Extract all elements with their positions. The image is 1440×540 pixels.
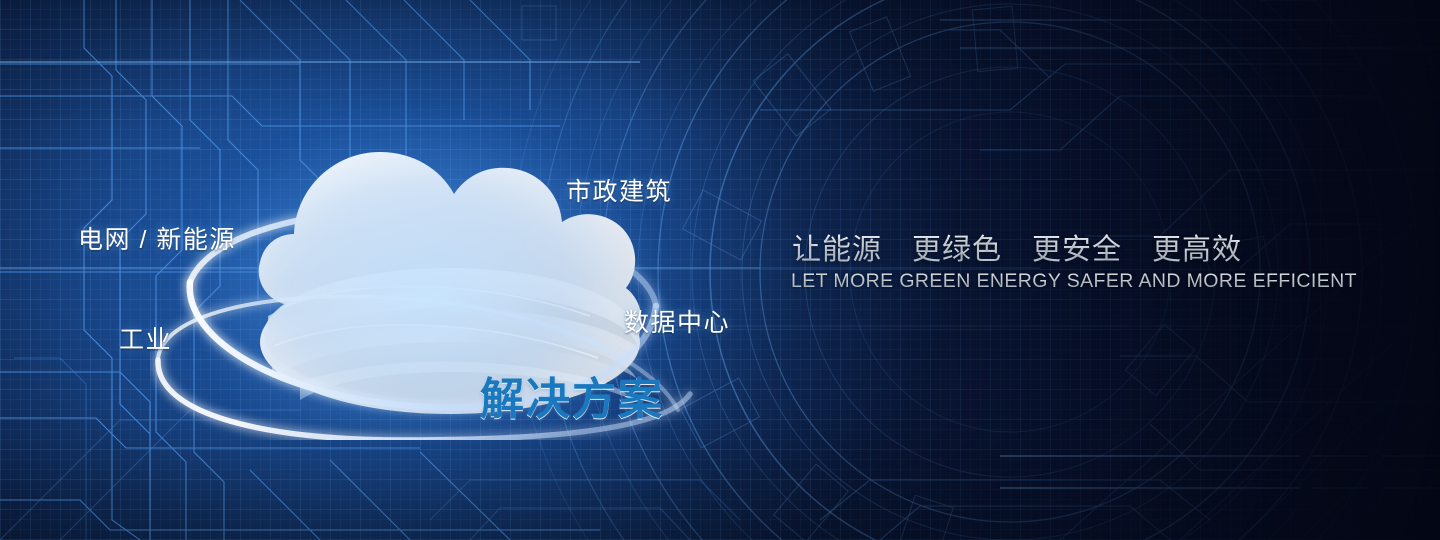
label-industry: 工业 (119, 320, 172, 356)
slogan-part-3: 更安全 (1032, 234, 1122, 266)
slogan-part-4: 更高效 (1152, 234, 1242, 266)
label-civic-building: 市政建筑 (566, 172, 672, 208)
label-grid-new-energy: 电网 / 新能源 (78, 220, 236, 256)
cloud-illustration: 解决方案 (150, 110, 710, 440)
slogan-part-2: 更绿色 (912, 234, 1002, 266)
slogan-cn: 让能源更绿色更安全更高效 (792, 226, 1242, 268)
slogan-en: LET MORE GREEN ENERGY SAFER AND MORE EFF… (791, 270, 1357, 293)
hero-banner: 解决方案 电网 / 新能源 工业 市政建筑 数据中心 让能源更绿色更安全更高效 … (0, 0, 1440, 540)
slogan-part-1: 让能源 (792, 234, 882, 266)
label-data-center: 数据中心 (624, 303, 730, 339)
cloud-title: 解决方案 (480, 363, 664, 427)
